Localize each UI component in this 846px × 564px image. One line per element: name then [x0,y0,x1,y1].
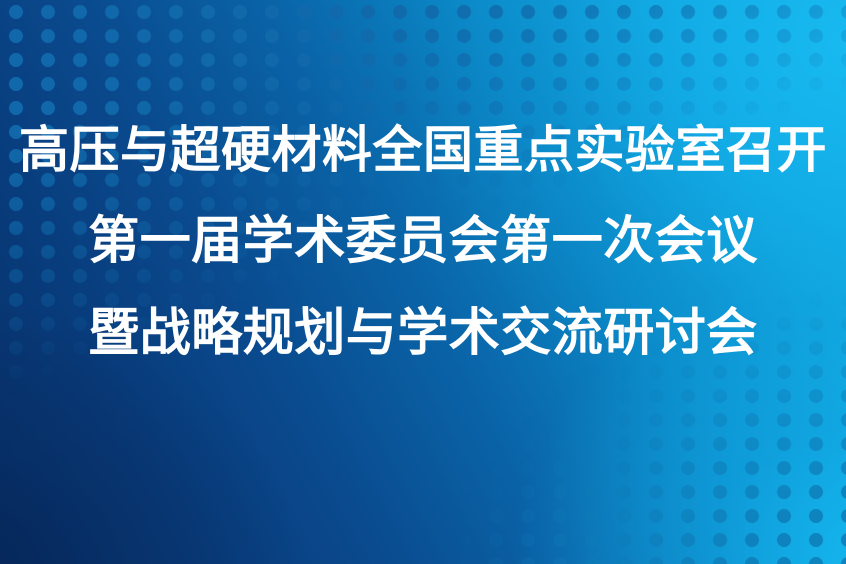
banner-title-block: 高压与超硬材料全国重点实验室召开 第一届学术委员会第一次会议 暨战略规划与学术交… [0,104,846,380]
banner-title-line-3: 暨战略规划与学术交流研讨会 [88,288,758,380]
banner-title-line-2: 第一届学术委员会第一次会议 [88,196,758,288]
conference-banner: 高压与超硬材料全国重点实验室召开 第一届学术委员会第一次会议 暨战略规划与学术交… [0,0,846,564]
banner-title-line-1: 高压与超硬材料全国重点实验室召开 [19,104,827,196]
